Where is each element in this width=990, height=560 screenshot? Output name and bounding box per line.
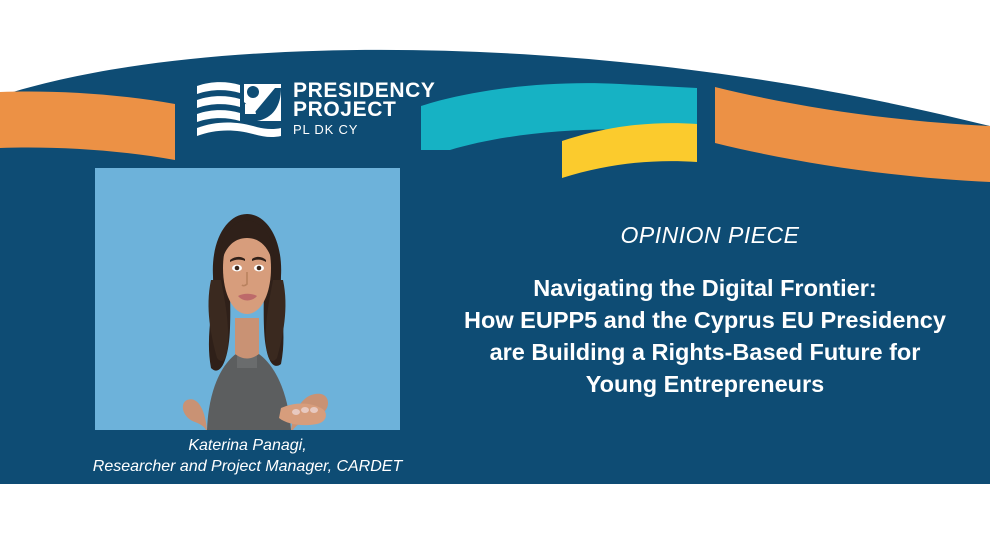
portrait-illustration: [95, 168, 400, 430]
poster-canvas: PRESIDENCY PROJECT PL DK CY: [0, 0, 990, 560]
headline-line-2: How EUPP5 and the Cyprus EU Presidency: [420, 304, 990, 336]
headline-line-3: are Building a Rights-Based Future for: [420, 336, 990, 368]
logo-line-countries: PL DK CY: [293, 119, 436, 138]
headline-line-4: Young Entrepreneurs: [420, 368, 990, 400]
caption-name: Katerina Panagi,: [45, 435, 450, 456]
portrait-caption: Katerina Panagi, Researcher and Project …: [45, 435, 450, 477]
presidency-project-flag-icon: [195, 80, 283, 138]
caption-role: Researcher and Project Manager, CARDET: [45, 456, 450, 477]
logo-line-presidency: PRESIDENCY: [293, 81, 436, 100]
headline-line-1: Navigating the Digital Frontier:: [420, 272, 990, 304]
footer-bar: CARDET: [0, 484, 990, 560]
presidency-project-logo: PRESIDENCY PROJECT PL DK CY: [195, 78, 410, 140]
page-title: Navigating the Digital Frontier: How EUP…: [420, 272, 990, 400]
logo-wordmark: PRESIDENCY PROJECT PL DK CY: [293, 81, 436, 138]
eyebrow-label: OPINION PIECE: [440, 222, 980, 249]
logo-line-project: PROJECT: [293, 100, 436, 119]
speaker-portrait: [95, 168, 400, 430]
